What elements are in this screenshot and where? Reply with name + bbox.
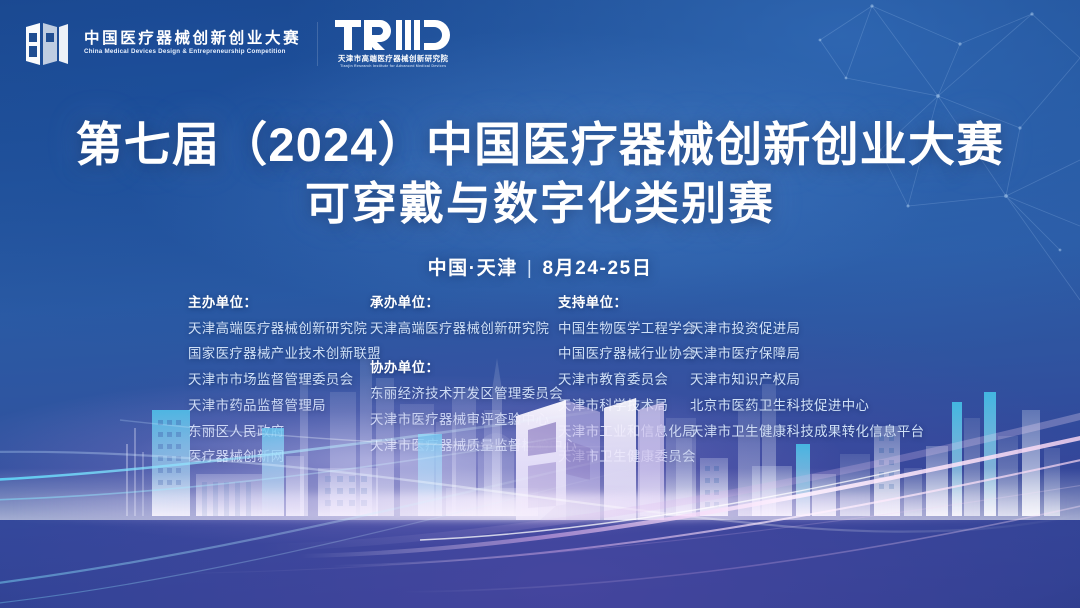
host-item: 天津市药品监督管理局	[188, 393, 370, 419]
co-organizer-heading: 协办单位：	[370, 355, 558, 381]
organizer-column-support-a: 支持单位： 中国生物医学工程学会 中国医疗器械行业协会 天津市教育委员会 天津市…	[558, 290, 690, 470]
support-heading: 支持单位：	[558, 290, 690, 316]
logo-divider	[317, 22, 318, 66]
support-item: 天津市卫生健康科技成果转化信息平台	[690, 419, 900, 445]
organizer-section: 主办单位： 天津高端医疗器械创新研究院 国家医疗器械产业技术创新联盟 天津市市场…	[188, 290, 1020, 470]
organizer-column-host: 主办单位： 天津高端医疗器械创新研究院 国家医疗器械产业技术创新联盟 天津市市场…	[188, 290, 370, 470]
organizer-item: 天津高端医疗器械创新研究院	[370, 316, 558, 342]
support-item: 天津市医疗保障局	[690, 341, 900, 367]
support-item: 天津市知识产权局	[690, 367, 900, 393]
support-column-spacer	[690, 290, 900, 316]
host-item: 国家医疗器械产业技术创新联盟	[188, 341, 370, 367]
event-subtitle: 中国·天津|8月24-25日	[0, 253, 1080, 280]
host-item: 天津市市场监督管理委员会	[188, 367, 370, 393]
event-date: 8月24-25日	[542, 258, 652, 279]
trmd-subtitle-cn: 天津市高端医疗器械创新研究院	[338, 55, 448, 62]
header-logos: 中国医疗器械创新创业大赛 China Medical Devices Desig…	[24, 18, 452, 69]
support-item: 北京市医药卫生科技促进中心	[690, 393, 900, 419]
support-item: 天津市科学技术局	[558, 393, 690, 419]
horizon-glow	[0, 494, 1080, 520]
support-item: 天津市投资促进局	[690, 316, 900, 342]
co-organizer-item: 天津市医疗器械质量监督检验中心	[370, 433, 558, 459]
support-item: 天津市教育委员会	[558, 367, 690, 393]
trmd-logo: 天津市高端医疗器械创新研究院 Tianjin Research Institut…	[334, 18, 452, 69]
organizer-heading: 承办单位：	[370, 290, 558, 316]
trmd-subtitle-en: Tianjin Research Institute for Advanced …	[340, 65, 446, 69]
open-door-logo-icon	[24, 21, 70, 67]
organizer-column-support-b: 天津市投资促进局 天津市医疗保障局 天津市知识产权局 北京市医药卫生科技促进中心…	[690, 290, 900, 444]
cmdc-title-cn: 中国医疗器械创新创业大赛	[84, 31, 301, 47]
event-location: 中国·天津	[428, 258, 518, 279]
host-item: 东丽区人民政府	[188, 419, 370, 445]
column-spacer	[370, 341, 558, 355]
title-line-2: 可穿戴与数字化类别赛	[0, 175, 1080, 234]
host-item: 医疗器械创新网	[188, 444, 370, 470]
host-heading: 主办单位：	[188, 290, 370, 316]
cmdc-title-en: China Medical Devices Design & Entrepren…	[84, 49, 301, 56]
co-organizer-item: 东丽经济技术开发区管理委员会	[370, 381, 558, 407]
support-item: 天津市卫生健康委员会	[558, 444, 690, 470]
co-organizer-item: 天津市医疗器械审评查验中心	[370, 407, 558, 433]
trmd-wordmark-icon	[334, 18, 452, 52]
subtitle-separator: |	[527, 258, 534, 280]
poster-title: 第七届（2024）中国医疗器械创新创业大赛 可穿戴与数字化类别赛	[0, 114, 1080, 234]
title-line-1: 第七届（2024）中国医疗器械创新创业大赛	[0, 114, 1080, 175]
support-item: 中国医疗器械行业协会	[558, 341, 690, 367]
host-item: 天津高端医疗器械创新研究院	[188, 316, 370, 342]
event-poster: 中国医疗器械创新创业大赛 China Medical Devices Desig…	[0, 0, 1080, 608]
organizer-column-organizer: 承办单位： 天津高端医疗器械创新研究院 协办单位： 东丽经济技术开发区管理委员会…	[370, 290, 558, 458]
support-item: 天津市工业和信息化局	[558, 419, 690, 445]
support-item: 中国生物医学工程学会	[558, 316, 690, 342]
